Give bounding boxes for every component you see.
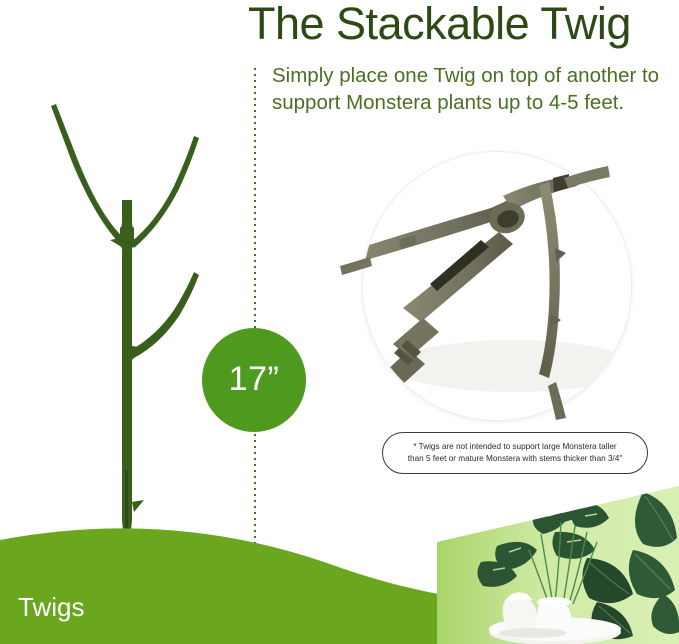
disclaimer-note: * Twigs are not intended to support larg… (382, 432, 648, 474)
disclaimer-text: * Twigs are not intended to support larg… (400, 441, 631, 466)
measurement-badge-value: 17” (229, 362, 280, 396)
measurement-badge: 17” (202, 328, 306, 432)
subtitle-description: Simply place one Twig on top of another … (272, 62, 662, 116)
disclaimer-line-2: than 5 feet or mature Monstera with stem… (408, 453, 623, 466)
twig-joint-photo-graphic (363, 152, 631, 420)
product-infographic: The Stackable Twig Simply place one Twig… (0, 0, 679, 644)
disclaimer-line-1: * Twigs are not intended to support larg… (408, 441, 623, 454)
product-closeup-photo (363, 152, 631, 420)
banner-label: Twigs (18, 592, 84, 622)
plant-photo-panel (437, 486, 679, 644)
dotted-divider (254, 68, 256, 568)
page-title: The Stackable Twig (248, 0, 668, 50)
